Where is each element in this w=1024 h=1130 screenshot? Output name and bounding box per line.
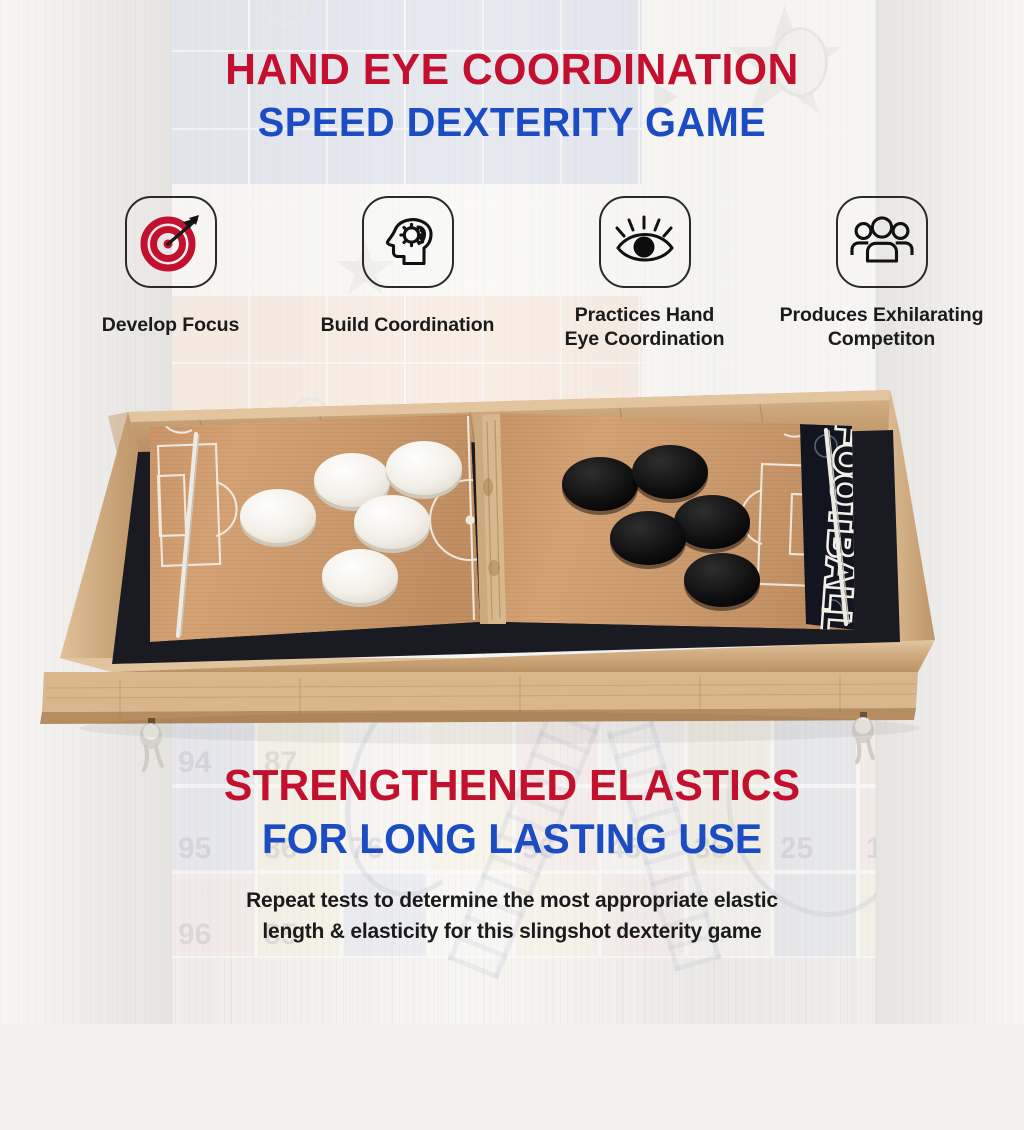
headline-block: HAND EYE COORDINATION SPEED DEXTERITY GA… [0, 46, 1024, 146]
footer-description-line2: length & elasticity for this slingshot d… [0, 916, 1024, 948]
feature-item-develop-focus: Develop Focus [52, 196, 289, 338]
eye-icon [599, 196, 691, 288]
feature-item-produces-competition: Produces Exhilarating Competiton [763, 196, 1000, 352]
feature-label: Build Coordination [321, 314, 495, 338]
people-group-icon [836, 196, 928, 288]
left-playfield [150, 414, 510, 642]
target-icon [125, 196, 217, 288]
footer-headline-secondary: FOR LONG LASTING USE [15, 814, 1008, 864]
feature-label: Produces Exhilarating Competiton [780, 304, 984, 352]
footer-description: Repeat tests to determine the most appro… [0, 885, 1024, 948]
footer-block: STRENGTHENED ELASTICS FOR LONG LASTING U… [0, 762, 1024, 948]
brain-head-icon [362, 196, 454, 288]
feature-label: Practices Hand Eye Coordination [565, 304, 725, 352]
footer-headline-primary: STRENGTHENED ELASTICS [15, 762, 1008, 810]
feature-item-practices-hand-eye: Practices Hand Eye Coordination [526, 196, 763, 352]
footer-description-line1: Repeat tests to determine the most appro… [0, 885, 1024, 917]
headline-primary: HAND EYE COORDINATION [15, 46, 1008, 94]
product-photo-sling-puck-board: x FOOTBALL [0, 372, 1024, 792]
feature-label: Develop Focus [102, 314, 239, 338]
feature-list: Develop Focus Build Coordination [52, 196, 1000, 352]
headline-secondary: SPEED DEXTERITY GAME [15, 98, 1008, 146]
feature-item-build-coordination: Build Coordination [289, 196, 526, 338]
